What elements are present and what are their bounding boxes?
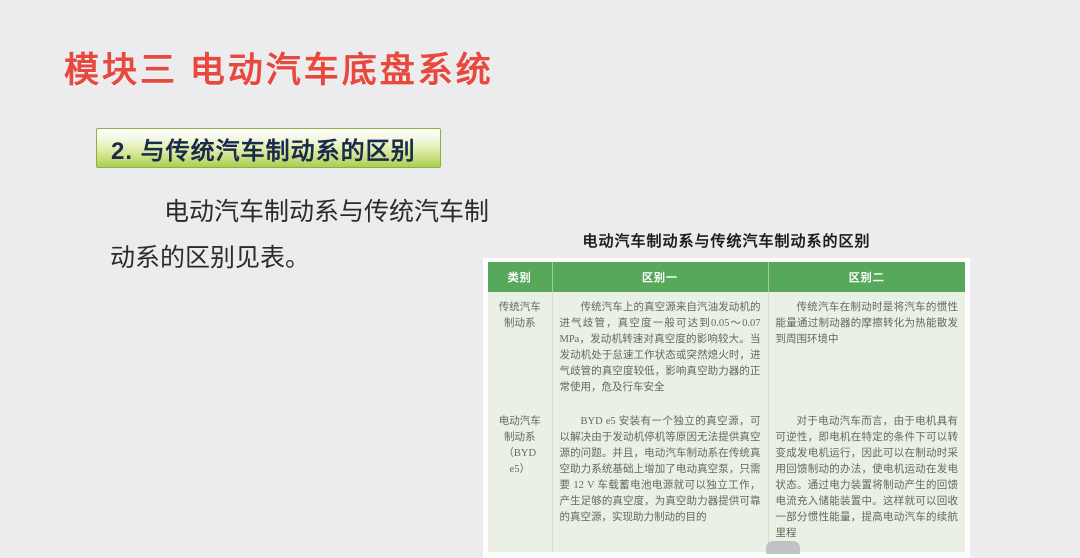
- section-heading-label: 2. 与传统汽车制动系的区别: [111, 131, 416, 166]
- section-heading-box: 2. 与传统汽车制动系的区别: [96, 128, 441, 168]
- table-row: 传统汽车制动系 传统汽车上的真空源来自汽油发动机的进气歧管，真空度一般可达到0.…: [488, 292, 965, 406]
- table-header-row: 类别 区别一 区别二: [488, 262, 965, 292]
- cell-category: 传统汽车制动系: [488, 292, 552, 406]
- cell-difference-one: 传统汽车上的真空源来自汽油发动机的进气歧管，真空度一般可达到0.05～0.07 …: [552, 292, 768, 406]
- table-header-difference-two: 区别二: [768, 262, 965, 292]
- bottom-handle-nub[interactable]: [766, 541, 800, 554]
- comparison-table: 类别 区别一 区别二 传统汽车制动系 传统汽车上的真空源来自汽油发动机的进气歧管…: [488, 262, 965, 552]
- table-header-difference-one: 区别一: [552, 262, 768, 292]
- cell-difference-one: BYD e5 安装有一个独立的真空源，可以解决由于发动机停机等原因无法提供真空源…: [552, 406, 768, 552]
- comparison-table-block: 电动汽车制动系与传统汽车制动系的区别 类别 区别一 区别二 传统汽车制动系 传统…: [483, 230, 970, 558]
- table-header-category: 类别: [488, 262, 552, 292]
- cell-difference-two: 对于电动汽车而言，由于电机具有可逆性，即电机在特定的条件下可以转变成发电机运行，…: [768, 406, 965, 552]
- table-row: 电动汽车制动系（BYD e5） BYD e5 安装有一个独立的真空源，可以解决由…: [488, 406, 965, 552]
- cell-category: 电动汽车制动系（BYD e5）: [488, 406, 552, 552]
- table-frame: 类别 区别一 区别二 传统汽车制动系 传统汽车上的真空源来自汽油发动机的进气歧管…: [483, 258, 970, 558]
- cell-difference-two: 传统汽车在制动时是将汽车的惯性能量通过制动器的摩擦转化为热能散发到周围环境中: [768, 292, 965, 406]
- table-caption: 电动汽车制动系与传统汽车制动系的区别: [483, 230, 970, 251]
- page-title: 模块三 电动汽车底盘系统: [64, 42, 494, 93]
- body-paragraph: 电动汽车制动系与传统汽车制动系的区别见表。: [110, 190, 510, 282]
